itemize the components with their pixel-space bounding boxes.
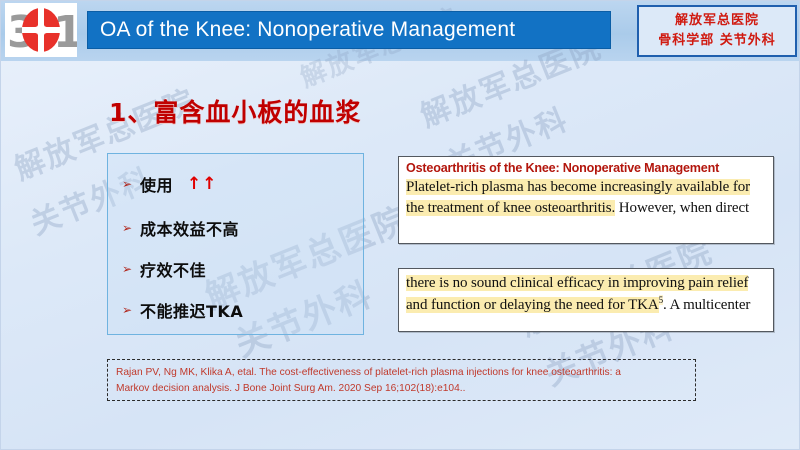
page-title: 1、富含血小板的血浆: [109, 93, 361, 129]
bullet-arrow-icon: ➢: [122, 177, 140, 191]
article-excerpt-box-1: Osteoarthritis of the Knee: Nonoperative…: [398, 156, 774, 244]
plain-text: However, when direct: [615, 200, 749, 216]
header-title-text: OA of the Knee: Nonoperative Management: [88, 18, 515, 42]
article-line: Platelet-rich plasma has become increasi…: [406, 177, 767, 198]
highlighted-text: the treatment of knee osteoarthritis.: [406, 200, 615, 216]
list-item-label: 不能推迟TKA: [140, 298, 243, 322]
list-item: ➢ 疗效不佳: [122, 257, 206, 281]
bullet-arrow-icon: ➢: [122, 262, 140, 276]
article-line: there is no sound clinical efficacy in i…: [406, 273, 767, 294]
hospital-department-badge: 解放军总医院 骨科学部 关节外科: [637, 5, 797, 57]
bullet-arrow-icon: ➢: [122, 303, 140, 317]
301-hospital-logo: 3 1: [5, 3, 77, 57]
article-excerpt-box-2: there is no sound clinical efficacy in i…: [398, 268, 774, 332]
citation-box: Rajan PV, Ng MK, Klika A, etal. The cost…: [107, 359, 696, 401]
list-item: ➢ 使用 ↑↑: [122, 172, 218, 196]
citation-line-2: Markov decision analysis. J Bone Joint S…: [116, 381, 687, 397]
list-item-label: 使用: [140, 172, 173, 196]
header-title-bar: OA of the Knee: Nonoperative Management: [87, 11, 611, 49]
citation-line-1: Rajan PV, Ng MK, Klika A, etal. The cost…: [116, 365, 687, 381]
article-line: and function or delaying the need for TK…: [406, 294, 767, 316]
up-arrow-icon: ↑↑: [187, 174, 218, 194]
highlighted-text: Platelet-rich plasma has become increasi…: [406, 179, 750, 195]
highlighted-text: and function or delaying the need for TK…: [406, 297, 659, 313]
bullet-arrow-icon: ➢: [122, 221, 140, 235]
key-points-box: ➢ 使用 ↑↑ ➢ 成本效益不高 ➢ 疗效不佳 ➢ 不能推迟TKA: [107, 153, 364, 335]
highlighted-text: there is no sound clinical efficacy in i…: [406, 275, 748, 291]
list-item-label: 疗效不佳: [140, 257, 206, 281]
article-line: the treatment of knee osteoarthritis. Ho…: [406, 198, 767, 219]
article-title: Osteoarthritis of the Knee: Nonoperative…: [406, 161, 767, 177]
list-item: ➢ 不能推迟TKA: [122, 298, 243, 322]
list-item: ➢ 成本效益不高: [122, 216, 239, 240]
slide-canvas: 3 1 OA of the Knee: Nonoperative Managem…: [0, 0, 800, 450]
plain-text: . A multicenter: [663, 297, 750, 313]
badge-line-1: 解放军总医院: [675, 11, 759, 31]
badge-line-2: 骨科学部 关节外科: [658, 31, 776, 51]
logo-graphic: 3 1: [5, 3, 77, 57]
list-item-label: 成本效益不高: [140, 216, 239, 240]
